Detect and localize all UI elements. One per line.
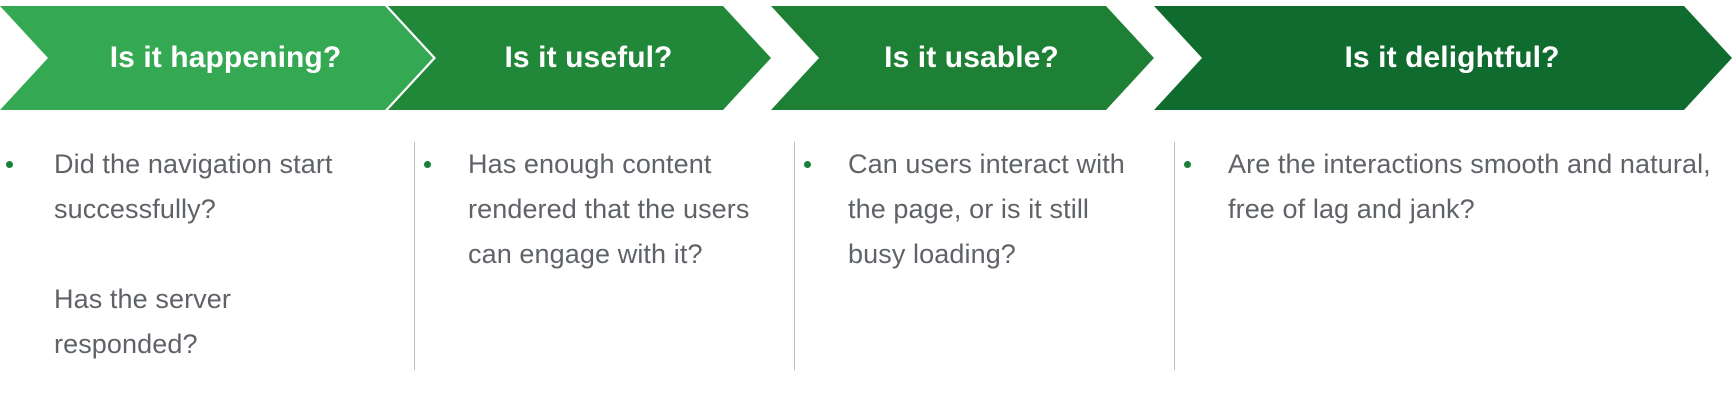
bullet-dot-icon <box>1184 161 1191 168</box>
description-columns: Did the navigation start successfully? H… <box>0 132 1732 400</box>
bullet-dot-icon <box>424 161 431 168</box>
chevron-step-3-label: Is it usable? <box>866 43 1059 73</box>
description-column-3-paragraph-1: Can users interact with the page, or is … <box>848 142 1140 277</box>
bullet-dot-icon <box>6 161 13 168</box>
bullet-dot-icon <box>804 161 811 168</box>
chevron-step-3[interactable]: Is it usable? <box>771 6 1154 110</box>
description-column-2-paragraph-1: Has enough content rendered that the use… <box>468 142 760 277</box>
description-column-3: Can users interact with the page, or is … <box>760 132 1140 400</box>
chevron-step-2-label: Is it useful? <box>487 43 673 73</box>
chevron-step-1-label: Is it happening? <box>92 43 342 73</box>
chevron-step-2[interactable]: Is it useful? <box>388 6 771 110</box>
description-column-4-paragraph-1: Are the interactions smooth and natural,… <box>1228 142 1732 232</box>
description-column-2: Has enough content rendered that the use… <box>380 132 760 400</box>
chevron-step-1[interactable]: Is it happening? <box>0 6 433 110</box>
list-item: Did the navigation start successfully? H… <box>0 142 380 367</box>
description-column-1: Did the navigation start successfully? H… <box>0 132 380 400</box>
list-item: Has enough content rendered that the use… <box>380 142 760 277</box>
description-column-1-paragraph-2: Has the server responded? <box>54 277 380 367</box>
list-item: Can users interact with the page, or is … <box>760 142 1140 277</box>
list-item: Are the interactions smooth and natural,… <box>1140 142 1732 232</box>
diagram-root: Is it happening? Is it useful? Is it usa… <box>0 0 1732 400</box>
chevron-step-4-label: Is it delightful? <box>1326 43 1559 73</box>
description-column-1-paragraph-1: Did the navigation start successfully? <box>54 142 380 232</box>
description-column-4: Are the interactions smooth and natural,… <box>1140 132 1732 400</box>
chevron-step-band: Is it happening? Is it useful? Is it usa… <box>0 6 1732 110</box>
chevron-step-4[interactable]: Is it delightful? <box>1154 6 1732 110</box>
